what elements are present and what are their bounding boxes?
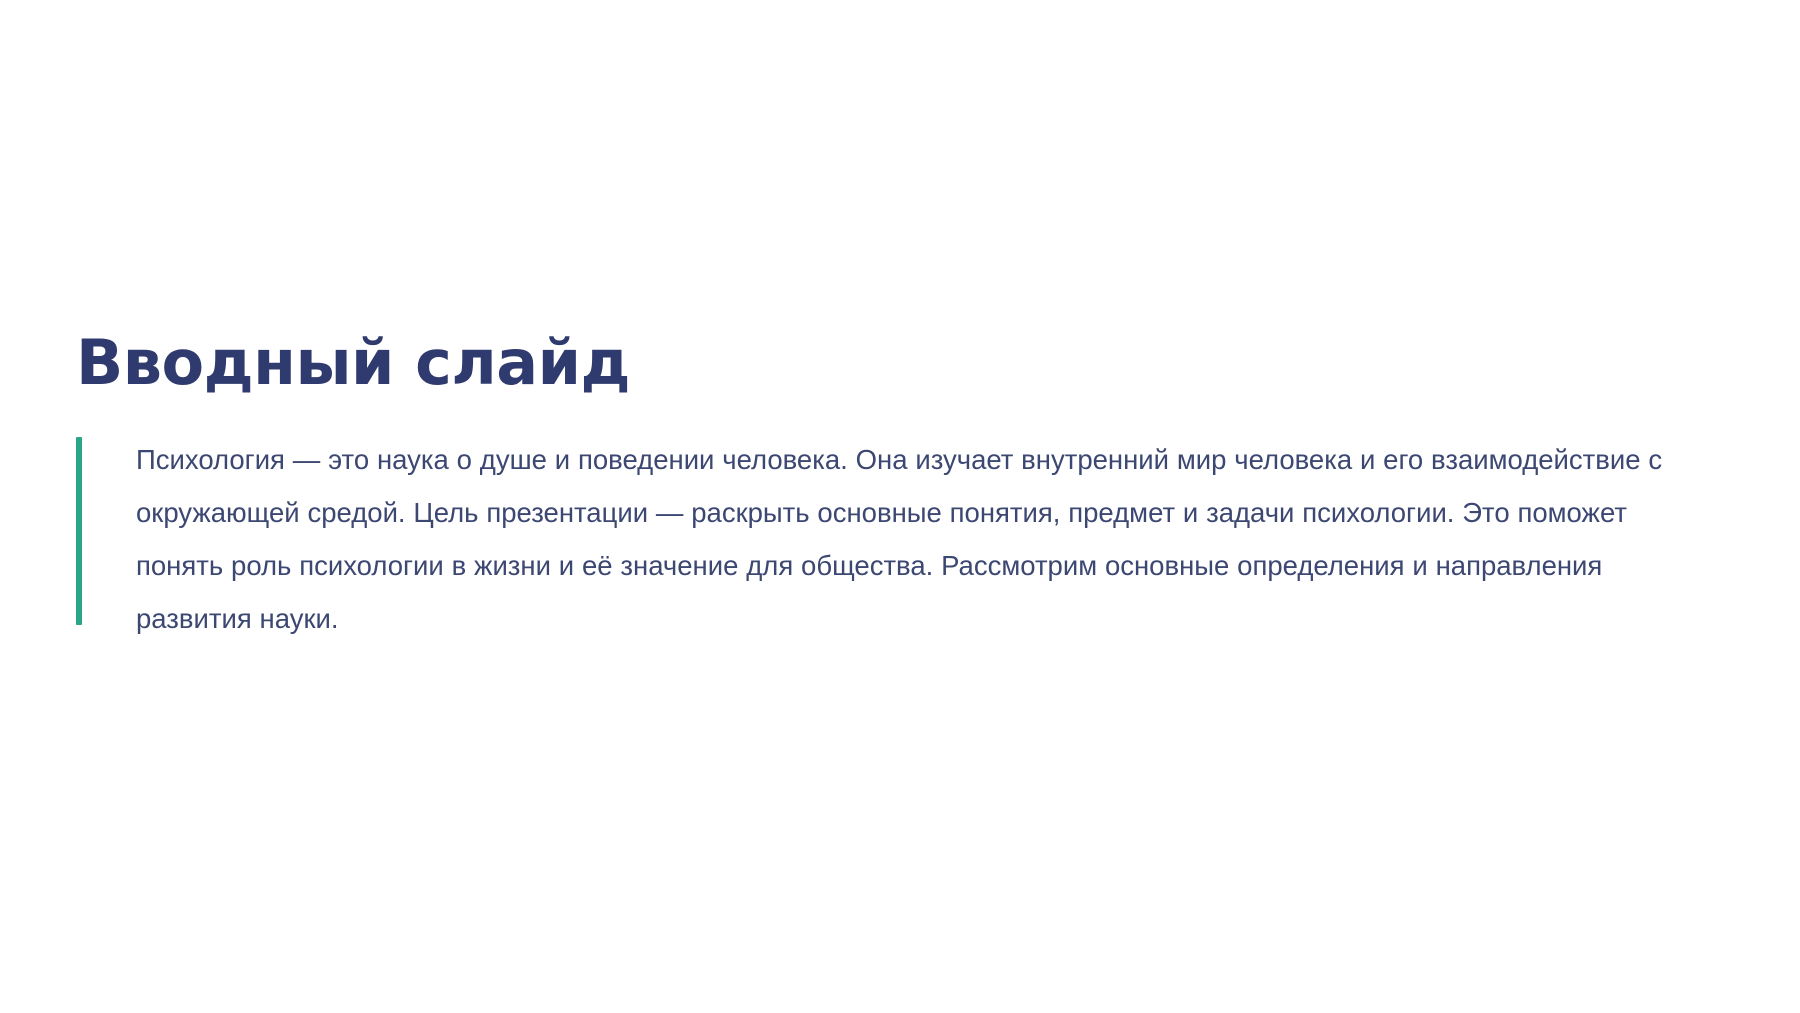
slide-content: Вводный слайд Психология — это наука о д…: [76, 330, 1728, 645]
presentation-slide: Вводный слайд Психология — это наука о д…: [0, 0, 1800, 1013]
slide-title: Вводный слайд: [76, 330, 1728, 395]
slide-body-text: Психология — это наука о душе и поведени…: [136, 433, 1696, 645]
accent-bar: [76, 437, 82, 625]
slide-body-block: Психология — это наука о душе и поведени…: [76, 433, 1728, 645]
